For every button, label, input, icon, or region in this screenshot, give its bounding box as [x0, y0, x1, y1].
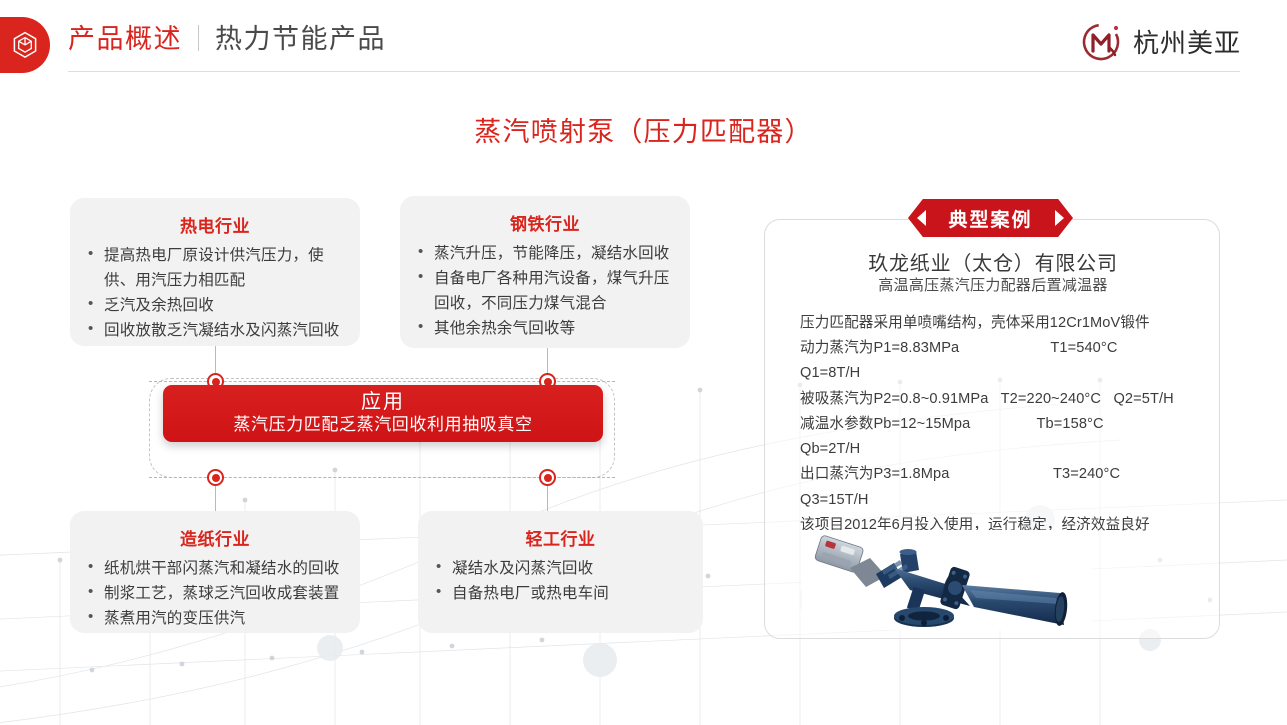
case-study-ribbon: 典型案例 [908, 199, 1073, 237]
brand-logo: 杭州美亚 [1079, 18, 1241, 64]
industry-card-list: 凝结水及闪蒸汽回收 自备热电厂或热电车间 [432, 556, 689, 606]
header-breadcrumb: 产品概述 热力节能产品 [68, 22, 386, 53]
industry-card-list: 纸机烘干部闪蒸汽和凝结水的回收 制浆工艺，蒸球乏汽回收成套装置 蒸煮用汽的变压供… [84, 556, 346, 631]
chevron-left-icon [917, 210, 926, 226]
industry-card-title: 热电行业 [84, 212, 346, 237]
list-item: 凝结水及闪蒸汽回收 [432, 556, 689, 581]
application-diagram: 热电行业 提高热电厂原设计供汽压力，使供、用汽压力相匹配 乏汽及余热回收 回收放… [0, 0, 760, 725]
case-study-spec-list: 压力匹配器采用单喷嘴结构，壳体采用12Cr1MoV锻件 动力蒸汽为P1=8.83… [800, 311, 1210, 538]
steam-ejector-pump-photo [802, 530, 1092, 630]
brand-name: 杭州美亚 [1133, 23, 1241, 60]
list-item: 蒸煮用汽的变压供汽 [84, 606, 346, 631]
list-item: 其他余热余气回收等 [414, 316, 676, 341]
industry-card-title: 造纸行业 [84, 525, 346, 550]
cube-hexagon-icon [12, 31, 38, 59]
case-study-ribbon-label: 典型案例 [948, 205, 1032, 232]
spec-line: Q3=15T/H [800, 488, 1210, 513]
page-title: 蒸汽喷射泵（压力匹配器） [0, 110, 1287, 149]
connector-node-bottom-right [539, 469, 556, 486]
connector-node-bottom-left [207, 469, 224, 486]
spec-line: 压力匹配器采用单喷嘴结构，壳体采用12Cr1MoV锻件 [800, 311, 1210, 336]
spec-line: 动力蒸汽为P1=8.83MPa T1=540°C [800, 336, 1210, 361]
list-item: 回收放散乏汽凝结水及闪蒸汽回收 [84, 318, 346, 343]
list-item: 提高热电厂原设计供汽压力，使供、用汽压力相匹配 [84, 243, 346, 293]
list-item: 蒸汽升压，节能降压，凝结水回收 [414, 241, 676, 266]
page-header: 产品概述 热力节能产品 杭州美亚 [0, 0, 1287, 82]
header-badge [0, 17, 50, 73]
industry-card-title: 钢铁行业 [414, 210, 676, 235]
header-title-sub: 热力节能产品 [215, 26, 386, 53]
spec-line: Q1=8T/H [800, 361, 1210, 386]
list-item: 乏汽及余热回收 [84, 293, 346, 318]
slide-root: 产品概述 热力节能产品 杭州美亚 蒸汽喷射泵（压力匹配器） [0, 0, 1287, 725]
industry-card-thermal-power[interactable]: 热电行业 提高热电厂原设计供汽压力，使供、用汽压力相匹配 乏汽及余热回收 回收放… [70, 198, 360, 346]
industry-card-list: 提高热电厂原设计供汽压力，使供、用汽压力相匹配 乏汽及余热回收 回收放散乏汽凝结… [84, 243, 346, 343]
case-study-subtitle: 高温高压蒸汽压力配器后置减温器 [765, 274, 1221, 295]
industry-card-light-industry[interactable]: 轻工行业 凝结水及闪蒸汽回收 自备热电厂或热电车间 [418, 511, 703, 633]
chevron-right-icon [1055, 210, 1064, 226]
industry-card-title: 轻工行业 [432, 525, 689, 550]
list-item: 自备热电厂或热电车间 [432, 581, 689, 606]
list-item: 制浆工艺，蒸球乏汽回收成套装置 [84, 581, 346, 606]
spec-line: 减温水参数Pb=12~15Mpa Tb=158°C [800, 412, 1210, 437]
meiya-m-logo-icon [1079, 18, 1125, 64]
industry-card-list: 蒸汽升压，节能降压，凝结水回收 自备电厂各种用汽设备，煤气升压回收，不同压力煤气… [414, 241, 676, 341]
header-title-main: 产品概述 [68, 26, 182, 53]
application-title: 应用 [361, 391, 405, 413]
spec-line: 被吸蒸汽为P2=0.8~0.91MPa T2=220~240°C Q2=5T/H [800, 387, 1210, 412]
spec-line: 出口蒸汽为P3=1.8Mpa T3=240°C [800, 462, 1210, 487]
list-item: 纸机烘干部闪蒸汽和凝结水的回收 [84, 556, 346, 581]
industry-card-steel[interactable]: 钢铁行业 蒸汽升压，节能降压，凝结水回收 自备电厂各种用汽设备，煤气升压回收，不… [400, 196, 690, 348]
header-divider [198, 25, 199, 51]
list-item: 自备电厂各种用汽设备，煤气升压回收，不同压力煤气混合 [414, 266, 676, 316]
case-study-title: 玖龙纸业（太仓）有限公司 [765, 247, 1221, 276]
spec-line: Qb=2T/H [800, 437, 1210, 462]
application-subtitle: 蒸汽压力匹配乏蒸汽回收利用抽吸真空 [233, 414, 532, 436]
case-study-panel: 玖龙纸业（太仓）有限公司 高温高压蒸汽压力配器后置减温器 压力匹配器采用单喷嘴结… [764, 219, 1220, 639]
application-center-box[interactable]: 应用 蒸汽压力匹配乏蒸汽回收利用抽吸真空 [163, 385, 603, 442]
header-underline [68, 71, 1240, 72]
industry-card-papermaking[interactable]: 造纸行业 纸机烘干部闪蒸汽和凝结水的回收 制浆工艺，蒸球乏汽回收成套装置 蒸煮用… [70, 511, 360, 633]
